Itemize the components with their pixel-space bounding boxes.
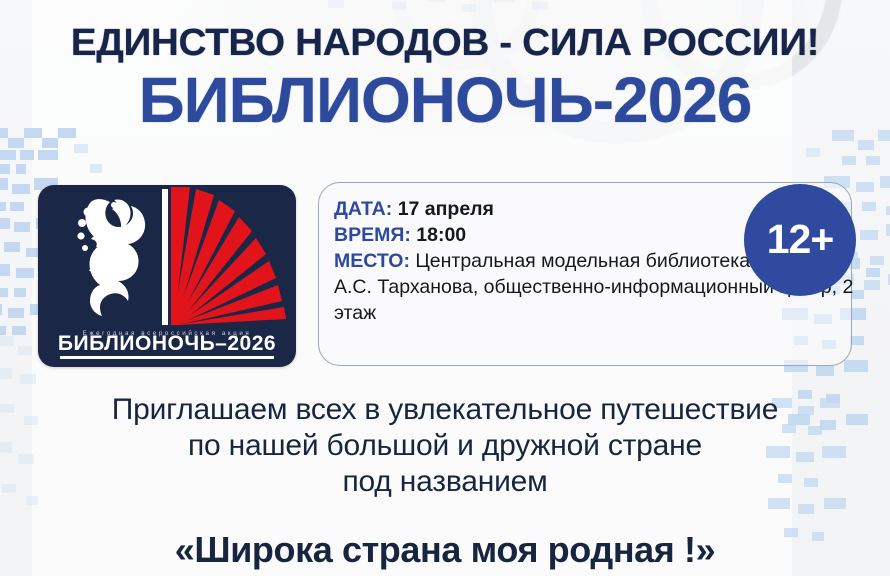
poster-root: ЕДИНСТВО НАРОДОВ - СИЛА РОССИИ! БИБЛИОНО… bbox=[0, 0, 890, 576]
time-label: ВРЕМЯ: bbox=[334, 224, 416, 246]
biblionight-logo-card: Ежегодная всероссийская акция БИБЛИОНОЧЬ… bbox=[38, 185, 296, 367]
invitation-line-3: под названием bbox=[0, 464, 890, 500]
red-fan-rays-icon bbox=[171, 187, 286, 325]
logo-wordmark: БИБЛИОНОЧЬ–2026 bbox=[38, 333, 296, 354]
age-rating-text: 12+ bbox=[767, 219, 834, 260]
age-rating-badge: 12+ bbox=[744, 184, 856, 296]
date-value: 17 апреля bbox=[398, 198, 494, 220]
logo-artwork bbox=[38, 185, 296, 325]
gzhel-floral-ornament-icon bbox=[77, 199, 145, 316]
invitation-line-2: по нашей большой и дружной стране bbox=[0, 428, 890, 464]
date-label: ДАТА: bbox=[334, 198, 398, 220]
logo-divider-bar bbox=[162, 189, 168, 325]
time-value: 18:00 bbox=[416, 224, 466, 246]
headline-block: ЕДИНСТВО НАРОДОВ - СИЛА РОССИИ! БИБЛИОНО… bbox=[0, 24, 890, 132]
headline-top: ЕДИНСТВО НАРОДОВ - СИЛА РОССИИ! bbox=[0, 24, 890, 62]
headline-main: БИБЛИОНОЧЬ-2026 bbox=[0, 68, 890, 132]
place-label: МЕСТО: bbox=[334, 250, 415, 272]
program-title-quote: «Широка страна моя родная !» bbox=[0, 530, 890, 570]
invitation-line-1: Приглашаем всех в увлекательное путешест… bbox=[0, 392, 890, 428]
logo-underline bbox=[60, 356, 274, 359]
invitation-block: Приглашаем всех в увлекательное путешест… bbox=[0, 392, 890, 570]
